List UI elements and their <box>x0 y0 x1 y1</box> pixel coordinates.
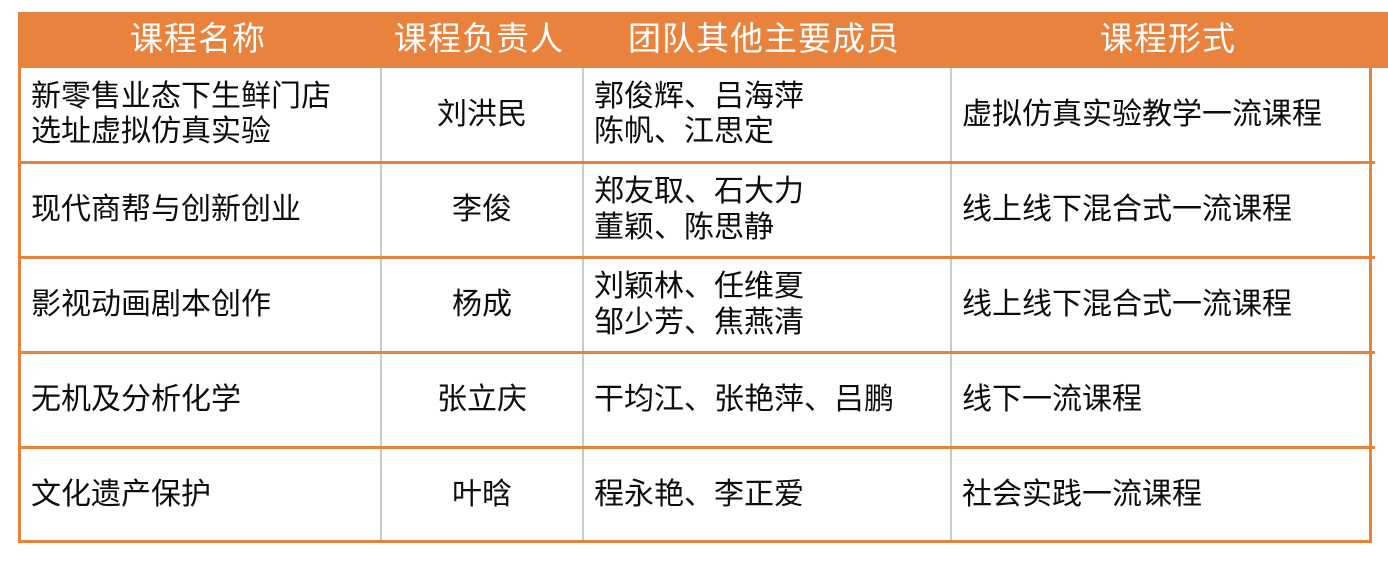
cell-course-form: 虚拟仿真实验教学一流课程 <box>951 68 1375 162</box>
cell-text-line: 郑友取、石大力 <box>594 174 940 209</box>
column-header-course-form: 课程形式 <box>948 24 1388 57</box>
cell-text-line: 董颖、陈思静 <box>594 210 940 245</box>
cell-text-line: 邹少芳、焦燕清 <box>594 305 940 340</box>
cell-course-leader: 李俊 <box>381 162 583 257</box>
column-header-course-leader: 课程负责人 <box>378 24 580 57</box>
table-row: 新零售业态下生鲜门店 选址虚拟仿真实验 刘洪民 郭俊辉、吕海萍 陈帆、江思定 虚… <box>21 68 1375 162</box>
table-header-row: 课程名称 课程负责人 团队其他主要成员 课程形式 <box>18 12 1388 68</box>
cell-course-leader: 叶晗 <box>381 447 583 540</box>
cell-team-members: 郭俊辉、吕海萍 陈帆、江思定 <box>583 68 951 162</box>
cell-team-members: 刘颖林、任维夏 邹少芳、焦燕清 <box>583 257 951 352</box>
cell-course-leader: 张立庆 <box>381 352 583 447</box>
table-row: 现代商帮与创新创业 李俊 郑友取、石大力 董颖、陈思静 线上线下混合式一流课程 <box>21 162 1375 257</box>
cell-text-line: 线下一流课程 <box>962 382 1365 417</box>
cell-text-line: 影视动画剧本创作 <box>31 287 370 322</box>
cell-course-name: 文化遗产保护 <box>21 447 381 540</box>
cell-text-line: 程永艳、李正爱 <box>594 477 940 512</box>
cell-text-line: 选址虚拟仿真实验 <box>31 114 370 149</box>
cell-text-line: 线上线下混合式一流课程 <box>962 287 1365 322</box>
table-row: 文化遗产保护 叶晗 程永艳、李正爱 社会实践一流课程 <box>21 447 1375 540</box>
cell-course-form: 线上线下混合式一流课程 <box>951 162 1375 257</box>
cell-text-line: 虚拟仿真实验教学一流课程 <box>962 97 1365 132</box>
cell-text-line: 刘颖林、任维夏 <box>594 269 940 304</box>
cell-text-line: 无机及分析化学 <box>31 382 370 417</box>
course-table: 新零售业态下生鲜门店 选址虚拟仿真实验 刘洪民 郭俊辉、吕海萍 陈帆、江思定 虚… <box>21 68 1375 540</box>
cell-text-line: 新零售业态下生鲜门店 <box>31 79 370 114</box>
cell-course-form: 线上线下混合式一流课程 <box>951 257 1375 352</box>
cell-text-line: 陈帆、江思定 <box>594 114 940 149</box>
course-table-body-wrapper: 新零售业态下生鲜门店 选址虚拟仿真实验 刘洪民 郭俊辉、吕海萍 陈帆、江思定 虚… <box>18 68 1372 543</box>
cell-text-line: 文化遗产保护 <box>31 477 370 512</box>
cell-text-line: 社会实践一流课程 <box>962 477 1365 512</box>
cell-team-members: 干均江、张艳萍、吕鹏 <box>583 352 951 447</box>
cell-team-members: 郑友取、石大力 董颖、陈思静 <box>583 162 951 257</box>
cell-course-form: 社会实践一流课程 <box>951 447 1375 540</box>
table-row: 影视动画剧本创作 杨成 刘颖林、任维夏 邹少芳、焦燕清 线上线下混合式一流课程 <box>21 257 1375 352</box>
course-table-tbody: 新零售业态下生鲜门店 选址虚拟仿真实验 刘洪民 郭俊辉、吕海萍 陈帆、江思定 虚… <box>21 68 1375 540</box>
cell-text-line: 郭俊辉、吕海萍 <box>594 79 940 114</box>
cell-text-line: 线上线下混合式一流课程 <box>962 192 1365 227</box>
table-row: 无机及分析化学 张立庆 干均江、张艳萍、吕鹏 线下一流课程 <box>21 352 1375 447</box>
column-header-team-members: 团队其他主要成员 <box>580 24 948 57</box>
cell-team-members: 程永艳、李正爱 <box>583 447 951 540</box>
cell-text-line: 干均江、张艳萍、吕鹏 <box>594 382 940 417</box>
cell-course-name: 现代商帮与创新创业 <box>21 162 381 257</box>
column-header-course-name: 课程名称 <box>18 24 378 57</box>
cell-course-form: 线下一流课程 <box>951 352 1375 447</box>
cell-text-line: 现代商帮与创新创业 <box>31 192 370 227</box>
cell-course-leader: 刘洪民 <box>381 68 583 162</box>
cell-course-name: 无机及分析化学 <box>21 352 381 447</box>
course-table-page: 课程名称 课程负责人 团队其他主要成员 课程形式 新零售业态下生鲜门店 选址虚拟… <box>0 0 1388 562</box>
cell-course-name: 新零售业态下生鲜门店 选址虚拟仿真实验 <box>21 68 381 162</box>
cell-course-name: 影视动画剧本创作 <box>21 257 381 352</box>
cell-course-leader: 杨成 <box>381 257 583 352</box>
